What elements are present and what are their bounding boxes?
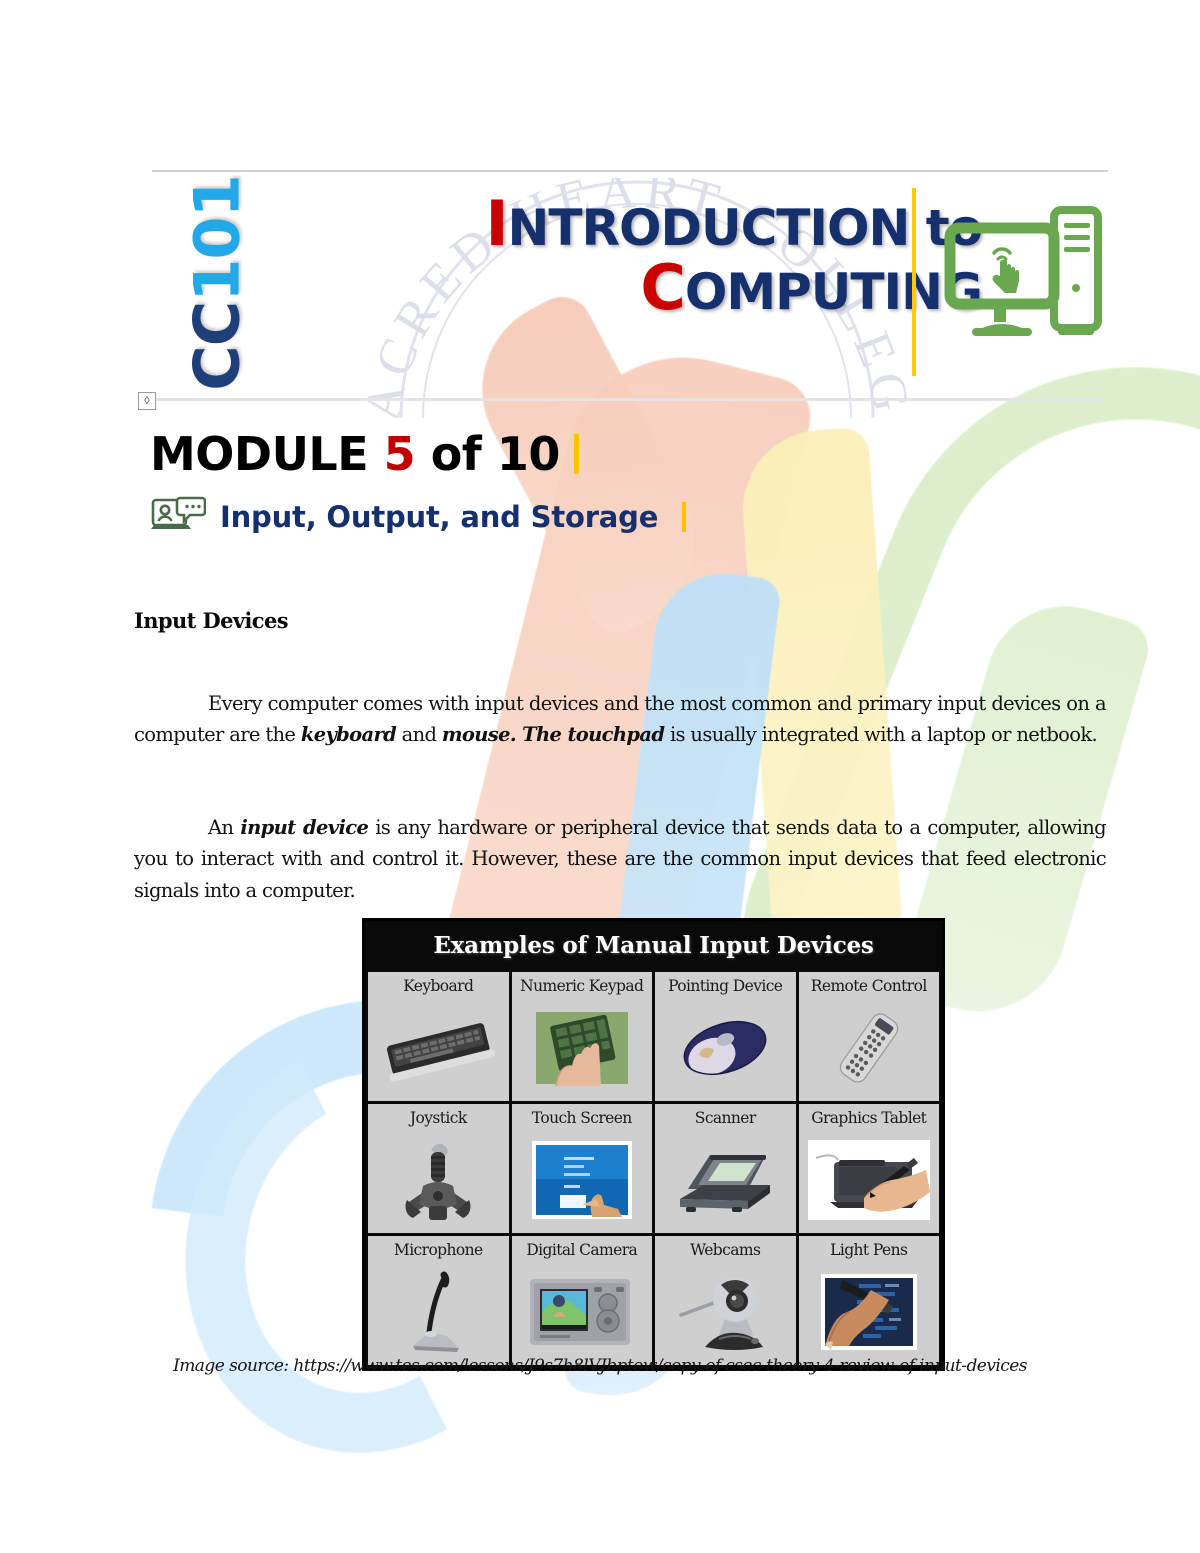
graphics-tablet-icon [799,1128,940,1233]
module-subtitle: Input, Output, and Storage [220,500,658,534]
module-label-prefix: MODULE [150,427,384,481]
para1-keyword-keyboard: keyboard [301,723,396,746]
remote-control-icon [799,996,940,1101]
cell-label: Remote Control [811,977,927,996]
logo-text-cc: CC [181,301,254,390]
flatbed-scanner-icon [655,1128,796,1233]
figure-caption: Image source: https://www.tes.com/lesson… [0,1356,1200,1376]
cell-label: Digital Camera [526,1241,637,1260]
para1-text-c: is usually integrated with a laptop or n… [664,723,1097,746]
header-top-rule [152,170,1108,172]
module-heading: MODULE 5 of 10 [150,430,686,478]
module-accent-bar [574,434,579,474]
figure-title: Examples of Manual Input Devices [365,921,942,972]
para1-text-b: and [396,723,442,746]
cell-label: Pointing Device [668,977,782,996]
title-line1-initial: I [485,187,507,260]
figure-cell: Digital Camera [512,1236,653,1365]
para2-text-a: An [208,816,240,839]
figure-cell: Scanner [655,1104,796,1233]
keyboard-icon [368,996,509,1101]
figure-cell: Numeric Keypad [512,972,653,1101]
figure-cell: Joystick [368,1104,509,1233]
module-title-block: MODULE 5 of 10 Input, Output, and Storag… [150,430,686,540]
module-number: 5 [384,427,416,481]
microphone-icon [368,1260,509,1365]
cell-label: Joystick [410,1109,467,1128]
cell-label: Light Pens [830,1241,907,1260]
cell-label: Microphone [394,1241,483,1260]
cell-label: Webcams [690,1241,760,1260]
header-bottom-rule [152,398,1108,401]
cell-label: Keyboard [403,977,473,996]
figure-cell: Touch Screen [512,1104,653,1233]
touch-screen-icon [512,1128,653,1233]
header-yellow-divider [912,188,916,376]
mouse-icon [655,996,796,1101]
logo-text-101: 101 [181,175,254,301]
touch-monitor-pc-icon [942,190,1102,370]
para1-keyword-mouse: mouse. [442,723,516,746]
para1-keyword-touchpad: The touchpad [516,723,664,746]
laptop-person-chat-icon [150,494,206,540]
paragraph-definition: An input device is any hardware or perip… [134,812,1106,907]
joystick-icon [368,1128,509,1233]
cc101-logo: CC101 [142,185,292,380]
table-move-handle-icon[interactable]: ◊ [138,392,156,410]
light-pen-icon [799,1260,940,1365]
paragraph-intro: Every computer comes with input devices … [134,688,1106,751]
figure-cell: Microphone [368,1236,509,1365]
figure-cell: Graphics Tablet [799,1104,940,1233]
title-line1-rest: NTRODUCTION to [508,199,982,257]
figure-cell: Webcams [655,1236,796,1365]
manual-input-devices-figure: Examples of Manual Input Devices Keyboar… [362,918,945,1371]
figure-cell: Pointing Device [655,972,796,1101]
module-subtitle-row: Input, Output, and Storage [150,494,686,540]
webcam-icon [655,1260,796,1365]
cell-label: Scanner [695,1109,756,1128]
cell-label: Graphics Tablet [811,1109,926,1128]
module-subtitle-accent-bar [682,502,686,532]
module-label-suffix: of 10 [415,427,560,481]
header-title: INTRODUCTION to COMPUTING [272,192,982,321]
figure-cell: Keyboard [368,972,509,1101]
cell-label: Touch Screen [532,1109,632,1128]
title-line2-rest: OMPUTING [685,263,982,321]
figure-cell: Light Pens [799,1236,940,1365]
para2-keyword-input-device: input device [240,816,368,839]
figure-cell: Remote Control [799,972,940,1101]
document-header: CC101 INTRODUCTION to COMPUTING [152,170,1108,400]
numeric-keypad-icon [512,996,653,1101]
section-heading-input-devices: Input Devices [134,608,288,633]
title-line2-initial: C [640,251,685,324]
cell-label: Numeric Keypad [520,977,643,996]
digital-camera-icon [512,1260,653,1365]
figure-grid: Keyboard [365,972,942,1368]
